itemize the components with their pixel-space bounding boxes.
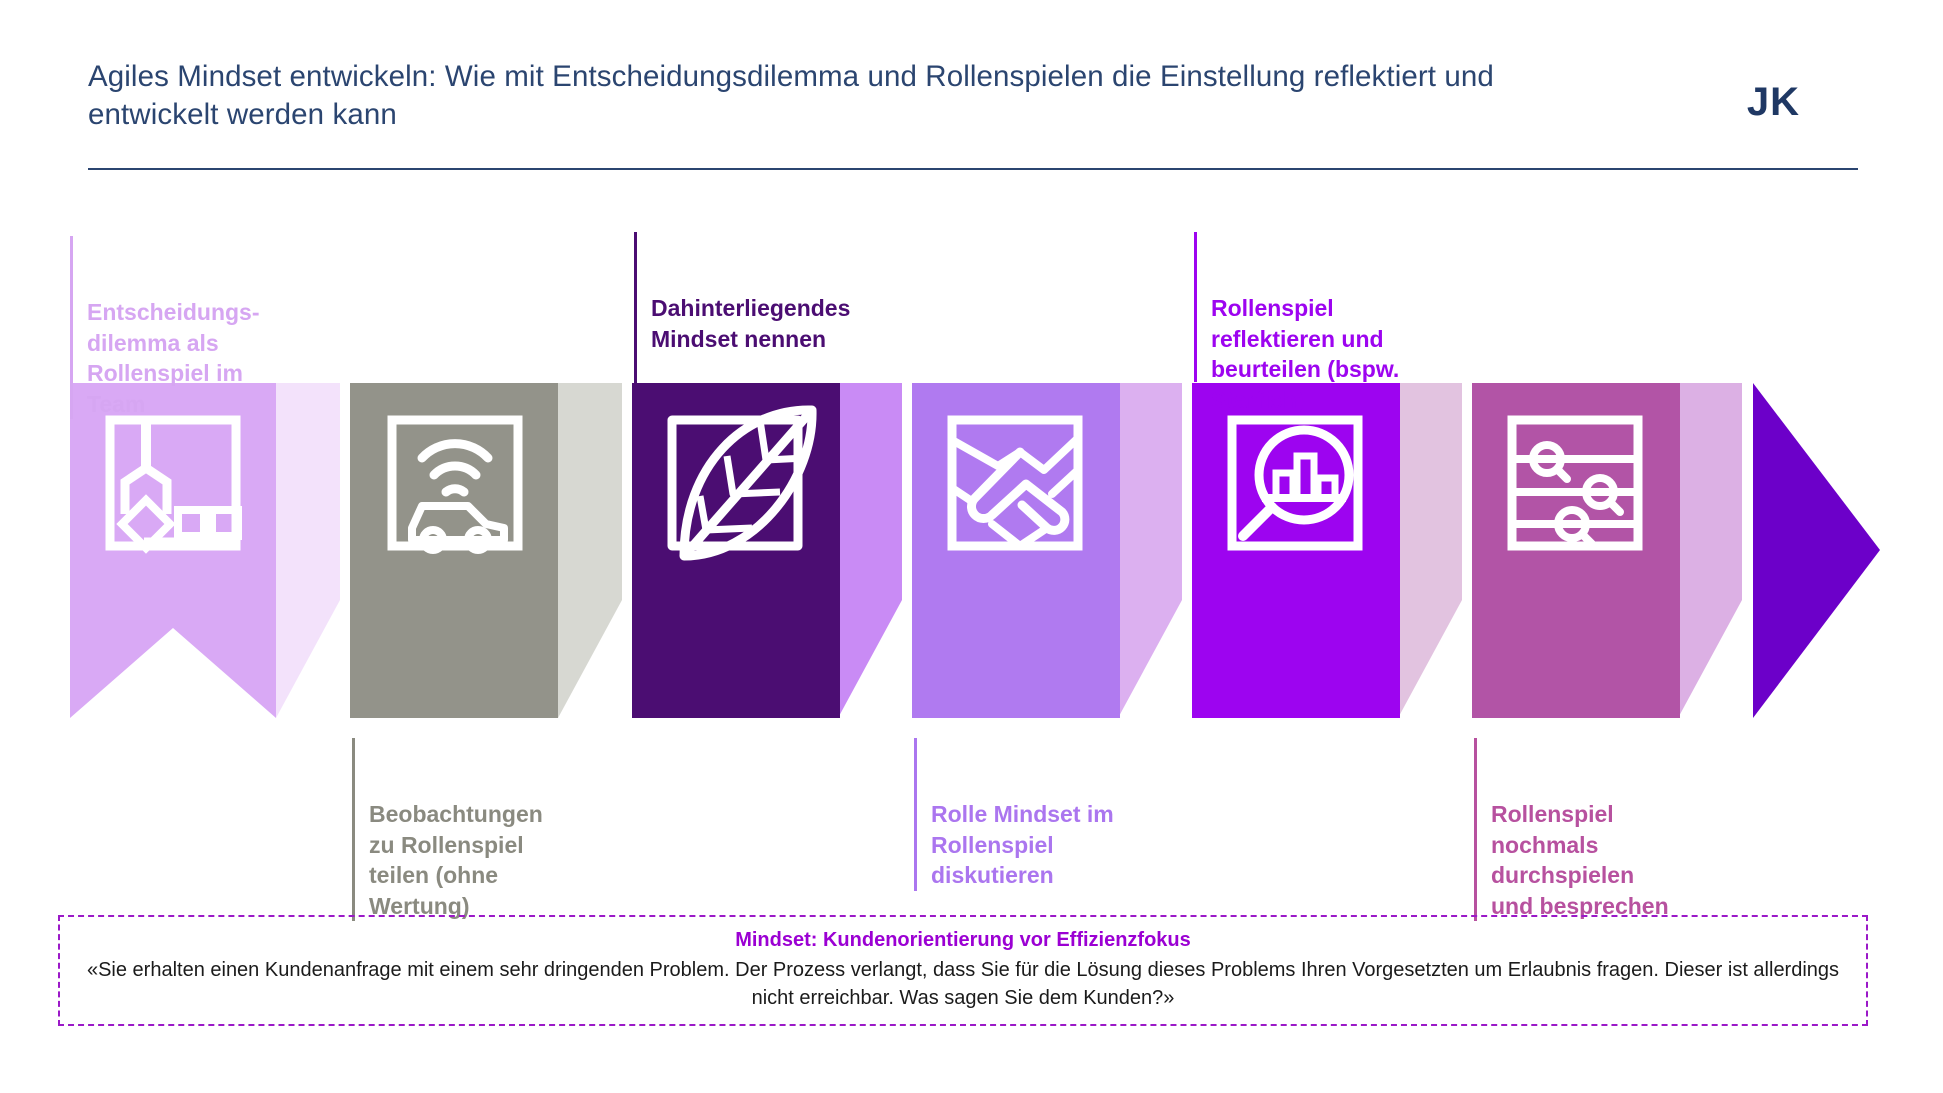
sliders-magnifier-icon — [1512, 420, 1638, 546]
step-2-label-wrap: Beobachtungen zu Rollenspiel teilen (ohn… — [352, 738, 619, 921]
step-1-label-wrap: Entscheidungs- dilemma als Rollenspiel i… — [70, 236, 327, 419]
connector-6 — [1678, 383, 1742, 718]
step-3-label-bar — [634, 232, 637, 477]
step-3-label: Dahinterliegendes Mindset nennen — [651, 295, 850, 352]
step-3-label-wrap: Dahinterliegendes Mindset nennen — [634, 232, 921, 354]
step-4-shape — [912, 383, 1120, 718]
step-2-shape — [350, 383, 558, 718]
step-1-label: Entscheidungs- dilemma als Rollenspiel i… — [87, 299, 260, 417]
step-6-label-bar — [1474, 738, 1477, 921]
step-1-shape — [70, 383, 276, 718]
chart-magnifier-icon — [1232, 420, 1358, 546]
robot-claw-icon — [110, 420, 240, 548]
end-arrow — [1753, 383, 1880, 718]
step-4-label-bar — [914, 738, 917, 891]
step-6-label: Rollenspiel nochmals durchspielen und be… — [1491, 801, 1669, 919]
step-5-label: Rollenspiel reflektieren und beurteilen … — [1211, 295, 1399, 413]
mindset-callout-box: Mindset: Kundenorientierung vor Effizien… — [58, 915, 1868, 1026]
page-header: Agiles Mindset entwickeln: Wie mit Entsc… — [88, 58, 1858, 135]
step-4-label: Rolle Mindset im Rollenspiel diskutieren — [931, 801, 1114, 888]
step-5-label-wrap: Rollenspiel reflektieren und beurteilen … — [1194, 232, 1471, 415]
connector-1 — [276, 383, 340, 718]
connected-car-icon — [392, 420, 518, 550]
mindset-body: «Sie erhalten einen Kundenanfrage mit ei… — [74, 957, 1852, 1012]
step-6-label-wrap: Rollenspiel nochmals durchspielen und be… — [1474, 738, 1761, 921]
header-divider — [88, 168, 1858, 170]
connector-2 — [558, 383, 622, 718]
connector-3 — [838, 383, 902, 718]
step-6-shape — [1472, 383, 1680, 718]
step-3-shape — [632, 383, 840, 718]
connector-4 — [1118, 383, 1182, 718]
step-4-label-wrap: Rolle Mindset im Rollenspiel diskutieren — [914, 738, 1181, 891]
step-2-label: Beobachtungen zu Rollenspiel teilen (ohn… — [369, 801, 543, 919]
jk-logo: JK — [1747, 80, 1800, 125]
page-title: Agiles Mindset entwickeln: Wie mit Entsc… — [88, 58, 1618, 135]
handshake-icon — [952, 420, 1078, 546]
mindset-title: Mindset: Kundenorientierung vor Effizien… — [74, 927, 1852, 954]
step-5-label-bar — [1194, 232, 1197, 382]
step-1-label-bar — [70, 236, 73, 419]
step-5-shape — [1192, 383, 1400, 718]
leaf-icon — [672, 410, 812, 556]
connector-5 — [1398, 383, 1462, 718]
step-2-label-bar — [352, 738, 355, 921]
